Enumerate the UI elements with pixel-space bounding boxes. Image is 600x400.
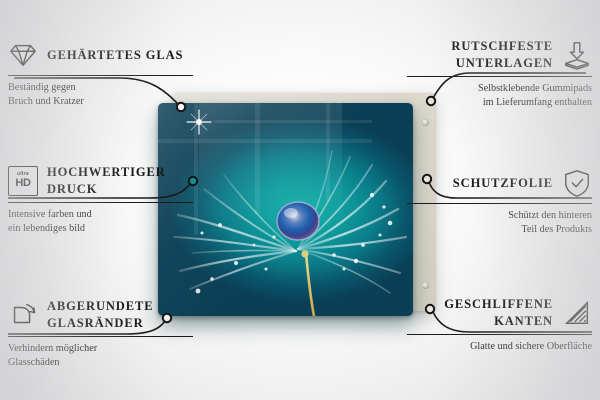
feature-header: ABGERUNDETE GLASRÄNDER: [8, 298, 193, 331]
feature-header: SCHUTZFOLIE: [407, 168, 592, 198]
feature-description: Intensive farben undein lebendiges bild: [8, 208, 193, 235]
feature-title: GEHÄRTETES GLAS: [47, 47, 183, 64]
feature-rounded-edges: ABGERUNDETE GLASRÄNDER Verhindern möglic…: [8, 298, 193, 369]
feature-header: RUTSCHFESTE UNTERLAGEN: [407, 38, 592, 71]
ultra-hd-icon: ultra HD: [8, 166, 38, 196]
feature-description: Verhindern möglicherGlasschäden: [8, 342, 193, 369]
feature-ground-edges: GESCHLIFFENE KANTEN Glatte und sichere O…: [407, 296, 592, 354]
feature-divider: [407, 203, 592, 204]
shield-check-icon: [562, 168, 592, 198]
feature-antislip-pads: RUTSCHFESTE UNTERLAGEN Selbstklebende Gu…: [407, 38, 592, 109]
feature-description: Selbstklebende Gummipadsim Lieferumfang …: [407, 82, 592, 109]
feature-divider: [8, 202, 193, 203]
feature-title: SCHUTZFOLIE: [453, 175, 553, 192]
feature-description: Schützt den hinterenTeil des Produkts: [407, 209, 592, 236]
dandelion-droplet-artwork: [158, 103, 413, 316]
mounting-stud-top-right: [422, 119, 429, 126]
feature-header: GEHÄRTETES GLAS: [8, 40, 193, 70]
feature-header: ultra HD HOCHWERTIGER DRUCK: [8, 164, 193, 197]
feature-title: HOCHWERTIGER DRUCK: [47, 164, 193, 197]
feature-title: ABGERUNDETE GLASRÄNDER: [47, 298, 193, 331]
rounded-corner-icon: [8, 300, 38, 330]
feature-header: GESCHLIFFENE KANTEN: [407, 296, 592, 329]
diamond-icon: [8, 40, 38, 70]
feature-title: GESCHLIFFENE KANTEN: [407, 296, 553, 329]
infographic-canvas: GEHÄRTETES GLAS Beständig gegenBruch und…: [0, 0, 600, 400]
ultra-hd-icon-large-text: HD: [15, 178, 30, 189]
feature-divider: [8, 75, 193, 76]
feature-divider: [407, 334, 592, 335]
feature-description: Beständig gegenBruch und Kratzer: [8, 81, 193, 108]
feature-protective-foil: SCHUTZFOLIE Schützt den hinterenTeil des…: [407, 168, 592, 236]
feature-title: RUTSCHFESTE UNTERLAGEN: [407, 38, 553, 71]
mounting-stud-bottom-right: [422, 282, 429, 289]
feature-hd-print: ultra HD HOCHWERTIGER DRUCK Intensive fa…: [8, 164, 193, 235]
feature-divider: [407, 76, 592, 77]
feature-tempered-glass: GEHÄRTETES GLAS Beständig gegenBruch und…: [8, 40, 193, 108]
feature-divider: [8, 336, 193, 337]
feature-description: Glatte und sichere Oberfläche: [407, 340, 592, 354]
product-glass-panel: [158, 103, 413, 316]
product-showcase: [155, 85, 445, 325]
hatched-triangle-icon: [562, 298, 592, 328]
press-pad-icon: [562, 40, 592, 70]
